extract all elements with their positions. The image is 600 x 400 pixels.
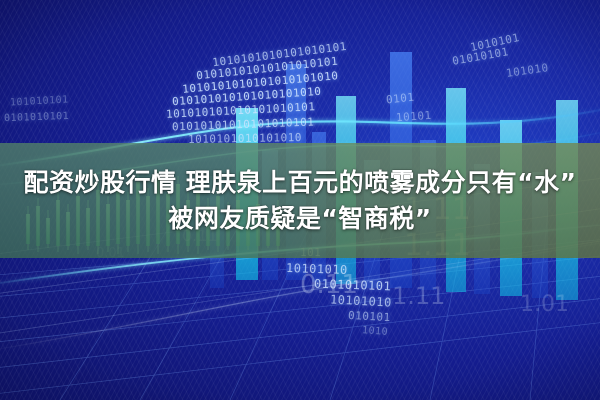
banner-image: 1010101010101010101010101010101010101011… (0, 0, 600, 400)
headline-line-1: 配资炒股行情 理肤泉上百元的喷雾成分只有“水” (23, 167, 576, 199)
headline-line-2: 被网友质疑是“智商税” (168, 203, 431, 235)
headline-text-block: 配资炒股行情 理肤泉上百元的喷雾成分只有“水” 被网友质疑是“智商税” (0, 143, 600, 258)
